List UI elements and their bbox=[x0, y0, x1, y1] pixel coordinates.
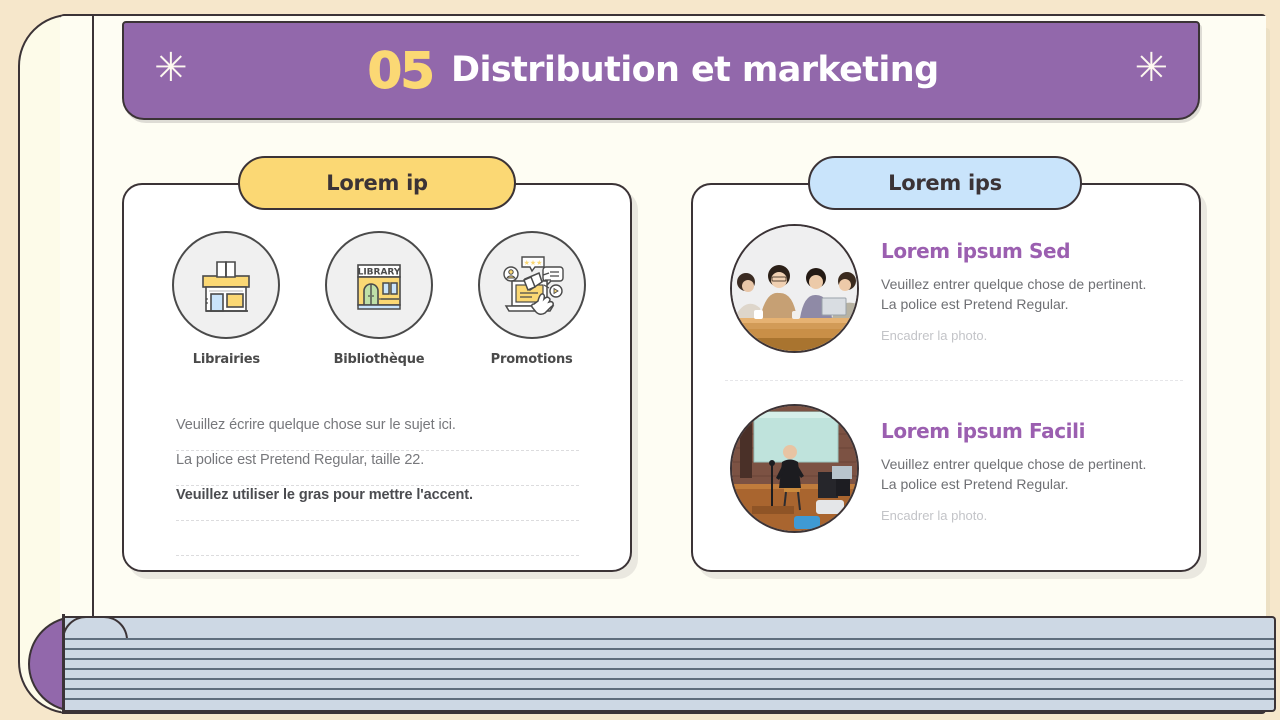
strip-lined-body bbox=[62, 616, 1276, 712]
person-name-2: Lorem ipsum Facili bbox=[881, 419, 1146, 443]
asterisk-icon-right: ✳ bbox=[1134, 48, 1168, 88]
tab-lorem-ip[interactable]: Lorem ip bbox=[238, 156, 516, 210]
list-item-lorem-ipsum-facili: Lorem ipsum Facili Veuillez entrer quelq… bbox=[730, 404, 1190, 533]
text-line-1[interactable]: Veuillez écrire quelque chose sur le suj… bbox=[176, 416, 579, 451]
person-desc-1-line-2: La police est Pretend Regular. bbox=[881, 294, 1146, 314]
bookstore-icon bbox=[172, 231, 280, 339]
person-text-block-2: Lorem ipsum Facili Veuillez entrer quelq… bbox=[881, 404, 1146, 533]
book-spine-line bbox=[92, 16, 94, 712]
icon-item-bibliotheque[interactable]: LIBRARY Bibliothèque bbox=[314, 231, 444, 367]
icon-caption-librairies: Librairies bbox=[161, 352, 291, 367]
icon-item-librairies[interactable]: Librairies bbox=[161, 231, 291, 367]
left-card-text-lines: Veuillez écrire quelque chose sur le suj… bbox=[176, 416, 579, 556]
group-meeting-photo[interactable] bbox=[730, 224, 859, 353]
person-desc-1-line-1: Veuillez entrer quelque chose de pertine… bbox=[881, 274, 1146, 294]
tab-lorem-ip-label: Lorem ip bbox=[326, 171, 427, 195]
tab-lorem-ips[interactable]: Lorem ips bbox=[808, 156, 1082, 210]
text-line-2[interactable]: La police est Pretend Regular, taille 22… bbox=[176, 451, 579, 486]
strip-left-cap bbox=[62, 614, 65, 714]
person-text-block-1: Lorem ipsum Sed Veuillez entrer quelque … bbox=[881, 224, 1146, 353]
slide-header-bar: ✳ 05 Distribution et marketing ✳ bbox=[122, 21, 1200, 120]
svg-text:LIBRARY: LIBRARY bbox=[358, 268, 401, 278]
page-title: Distribution et marketing bbox=[451, 53, 939, 88]
person-desc-2-line-1: Veuillez entrer quelque chose de pertine… bbox=[881, 454, 1146, 474]
text-line-3[interactable]: Veuillez utiliser le gras pour mettre l'… bbox=[176, 486, 579, 521]
right-content-card: Lorem ipsum Sed Veuillez entrer quelque … bbox=[691, 183, 1201, 572]
megaphone-laptop-icon: ★★★ bbox=[478, 231, 586, 339]
svg-text:★★★: ★★★ bbox=[523, 259, 542, 267]
strip-rule-lines bbox=[62, 618, 1274, 710]
person-note-1: Encadrer la photo. bbox=[881, 328, 1146, 343]
stage-speaker-photo[interactable] bbox=[730, 404, 859, 533]
person-desc-2-line-2: La police est Pretend Regular. bbox=[881, 474, 1146, 494]
person-name-1: Lorem ipsum Sed bbox=[881, 239, 1146, 263]
left-content-card: Librairies LIBRARY bbox=[122, 183, 632, 572]
icon-item-promotions[interactable]: ★★★ bbox=[467, 231, 597, 367]
text-line-4[interactable] bbox=[176, 521, 579, 556]
icon-caption-promotions: Promotions bbox=[467, 352, 597, 367]
person-note-2: Encadrer la photo. bbox=[881, 508, 1146, 523]
library-building-icon: LIBRARY bbox=[325, 231, 433, 339]
text-line-1-value: Veuillez écrire quelque chose sur le suj… bbox=[176, 417, 456, 433]
bottom-lined-strip bbox=[28, 616, 1276, 712]
text-line-2-value: La police est Pretend Regular, taille 22… bbox=[176, 452, 424, 468]
section-number: 05 bbox=[367, 46, 433, 96]
header-title-group: 05 Distribution et marketing bbox=[367, 46, 938, 96]
list-divider bbox=[725, 380, 1183, 381]
asterisk-icon-left: ✳ bbox=[154, 48, 188, 88]
icon-caption-bibliotheque: Bibliothèque bbox=[314, 352, 444, 367]
list-item-lorem-ipsum-sed: Lorem ipsum Sed Veuillez entrer quelque … bbox=[730, 224, 1190, 353]
text-line-3-value: Veuillez utiliser le gras pour mettre l'… bbox=[176, 487, 473, 503]
tab-lorem-ips-label: Lorem ips bbox=[888, 171, 1002, 195]
icon-row: Librairies LIBRARY bbox=[150, 231, 608, 367]
